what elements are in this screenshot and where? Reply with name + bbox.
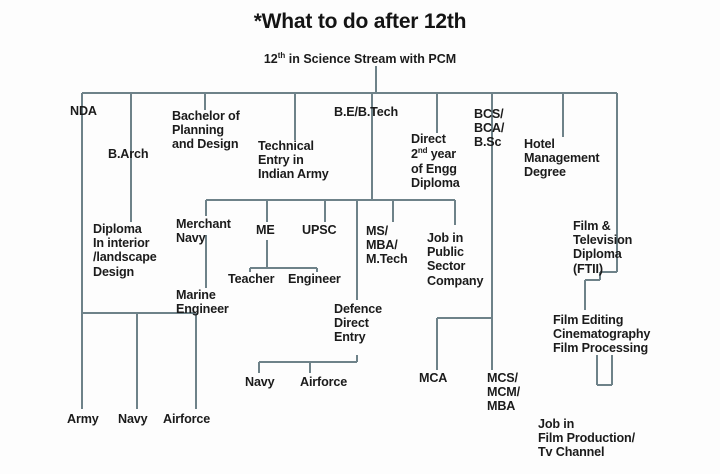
node-diploma-interior-landscape-design[interactable]: Diploma In interior /landscape Design xyxy=(93,222,157,279)
node-bachelor-planning-design[interactable]: Bachelor of Planning and Design xyxy=(172,109,240,152)
node-barch[interactable]: B.Arch xyxy=(108,147,148,161)
node-film-television-diploma-ftii[interactable]: Film & Television Diploma (FTII) xyxy=(573,219,632,276)
node-direct-2nd-year-engg-diploma[interactable]: Direct2nd yearof EnggDiploma xyxy=(411,132,460,190)
direct-line3: of Engg xyxy=(411,162,457,176)
node-mca[interactable]: MCA xyxy=(419,371,447,385)
direct-line2-num: 2 xyxy=(411,147,418,161)
node-job-film-production-tv-channel[interactable]: Job in Film Production/ Tv Channel xyxy=(538,417,635,460)
node-navy-defence[interactable]: Navy xyxy=(245,375,275,389)
root-label-number: 12 xyxy=(264,52,278,66)
node-me[interactable]: ME xyxy=(256,223,275,237)
node-defence-direct-entry[interactable]: Defence Direct Entry xyxy=(334,302,382,345)
node-nda[interactable]: NDA xyxy=(70,104,97,118)
node-bcs-bca-bsc[interactable]: BCS/ BCA/ B.Sc xyxy=(474,107,504,150)
page-title: *What to do after 12th xyxy=(0,10,720,34)
direct-line1: Direct xyxy=(411,132,446,146)
node-airforce-nda[interactable]: Airforce xyxy=(163,412,210,426)
node-army-nda[interactable]: Army xyxy=(67,412,99,426)
node-marine-engineer[interactable]: Marine Engineer xyxy=(176,288,229,316)
node-upsc[interactable]: UPSC xyxy=(302,223,336,237)
direct-line4: Diploma xyxy=(411,176,460,190)
node-ms-mba-mtech[interactable]: MS/ MBA/ M.Tech xyxy=(366,224,408,267)
node-navy-nda[interactable]: Navy xyxy=(118,412,148,426)
node-technical-entry-indian-army[interactable]: Technical Entry in Indian Army xyxy=(258,139,329,182)
node-job-public-sector-company[interactable]: Job in Public Sector Company xyxy=(427,231,483,288)
node-be-btech[interactable]: B.E/B.Tech xyxy=(334,105,398,119)
node-merchant-navy[interactable]: Merchant Navy xyxy=(176,217,231,245)
flowchart-canvas: *What to do after 12th 12th in Science S… xyxy=(0,0,720,474)
direct-line2-superscript: nd xyxy=(418,146,427,155)
root-label-rest: in Science Stream with PCM xyxy=(285,52,456,66)
node-airforce-defence[interactable]: Airforce xyxy=(300,375,347,389)
node-film-editing-cinematography-processing[interactable]: Film Editing Cinematography Film Process… xyxy=(553,313,650,356)
node-engineer[interactable]: Engineer xyxy=(288,272,341,286)
node-mcs-mcm-mba[interactable]: MCS/ MCM/ MBA xyxy=(487,371,520,414)
node-hotel-management-degree[interactable]: Hotel Management Degree xyxy=(524,137,599,180)
direct-line2-rest: year xyxy=(427,147,456,161)
node-teacher[interactable]: Teacher xyxy=(228,272,274,286)
root-node-label: 12th in Science Stream with PCM xyxy=(0,51,720,66)
